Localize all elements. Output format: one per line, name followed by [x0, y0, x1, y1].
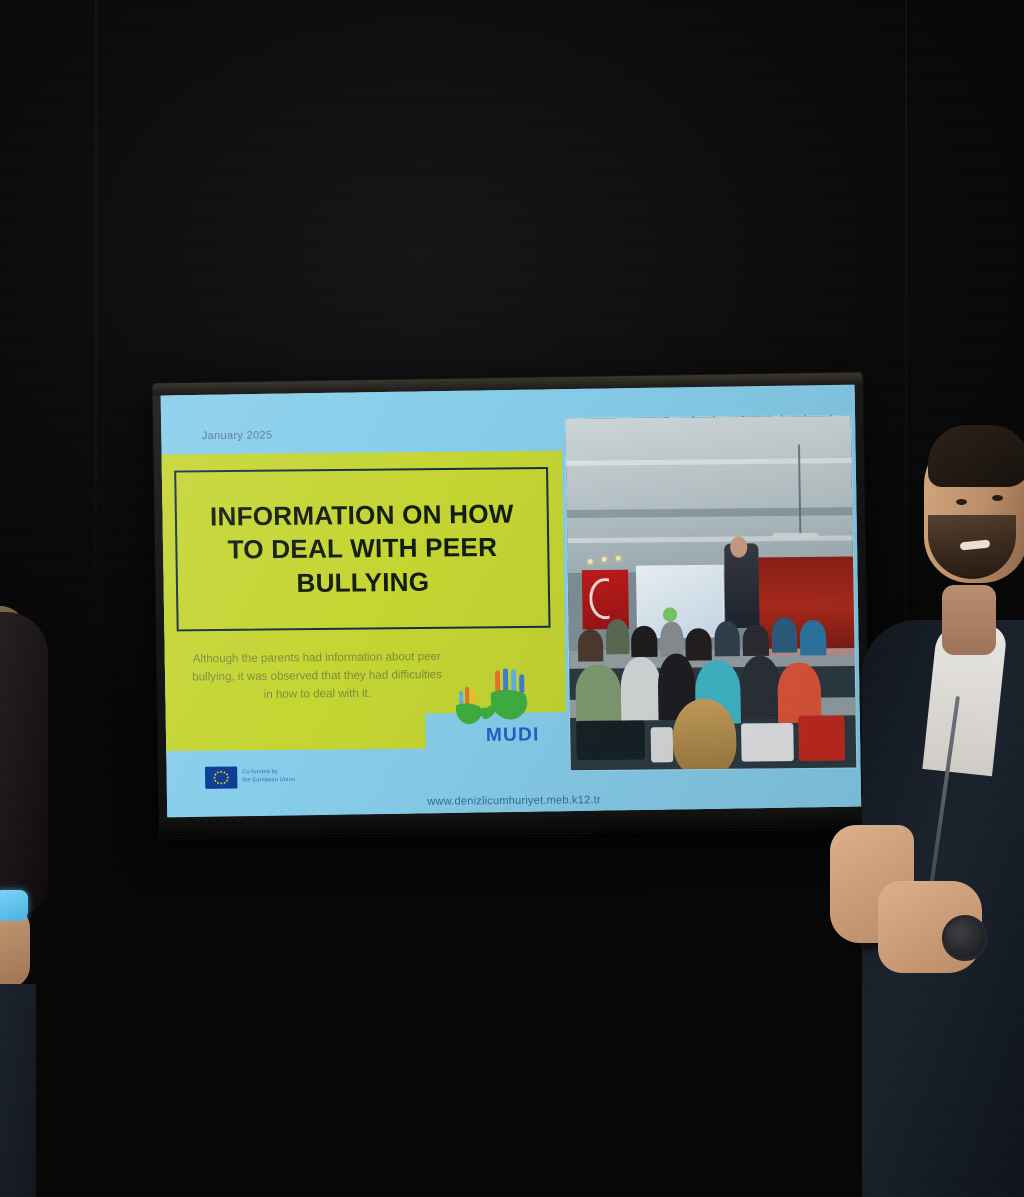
smartwatch: [0, 890, 28, 920]
wall-seam: [95, 0, 97, 1197]
tv-screen: January 2025 Cumhuriyet Anadolu Lisesi I…: [161, 385, 862, 818]
photo-audience-head: [800, 620, 826, 655]
photo-projected-graphic: [663, 607, 677, 621]
photo-spotlight: [616, 555, 621, 560]
photo-audience-head: [606, 618, 629, 653]
photo-audience-body: [740, 656, 781, 720]
eu-stars-icon: [205, 766, 238, 788]
photo-audience-head: [577, 629, 603, 661]
neck: [942, 585, 996, 655]
slide-website-url: www.denizlicumhuriyet.meb.k12.tr: [165, 792, 861, 811]
photo-audience-head: [686, 628, 712, 660]
photo-chair: [650, 727, 673, 762]
photo-audience-body: [620, 657, 661, 721]
room-scene: January 2025 Cumhuriyet Anadolu Lisesi I…: [0, 0, 1024, 1197]
eu-flag-icon: [205, 766, 238, 788]
photo-spotlight: [588, 559, 593, 564]
slide-title-box: INFORMATION ON HOW TO DEAL WITH PEER BUL…: [174, 467, 550, 631]
wall-mounted-tv: January 2025 Cumhuriyet Anadolu Lisesi I…: [152, 372, 869, 839]
slide-date: January 2025: [202, 429, 273, 442]
slide-title-line-2: TO DEAL WITH PEER: [227, 531, 497, 567]
slide-paragraph: Although the parents had information abo…: [191, 649, 443, 705]
seminar-photo: [565, 416, 856, 770]
photo-audience-head: [714, 621, 740, 656]
photo-presenter-head: [730, 536, 747, 557]
photo-chair: [741, 722, 793, 761]
eu-cofunding-logo: Co-funded by the European Union: [205, 766, 295, 789]
eye: [956, 499, 967, 505]
photo-ceiling: [565, 416, 853, 573]
presentation-slide: January 2025 Cumhuriyet Anadolu Lisesi I…: [161, 386, 862, 817]
sleeve: [0, 612, 48, 912]
person-right: [824, 395, 1024, 1197]
photo-lamp-bar: [773, 532, 819, 537]
photo-audience-head: [631, 625, 657, 657]
person-left: [0, 612, 70, 1197]
photo-audience-body: [575, 664, 622, 721]
mudi-logo: MUDI: [451, 668, 545, 751]
eye: [992, 495, 1003, 501]
trousers: [0, 984, 36, 1197]
photo-audience-head: [771, 617, 797, 652]
slide-title-line-3: BULLYING: [296, 565, 429, 600]
eu-funding-line-2: the European Union: [242, 777, 295, 786]
hair: [928, 425, 1024, 487]
eu-funding-text: Co-funded by the European Union: [242, 769, 295, 786]
photo-chair: [576, 720, 645, 759]
photo-audience-head: [743, 624, 769, 656]
mudi-label: MUDI: [486, 724, 540, 747]
photo-audience-body: [778, 662, 822, 722]
photo-audience-head: [660, 621, 683, 656]
slide-title-line-1: INFORMATION ON HOW: [210, 498, 514, 534]
